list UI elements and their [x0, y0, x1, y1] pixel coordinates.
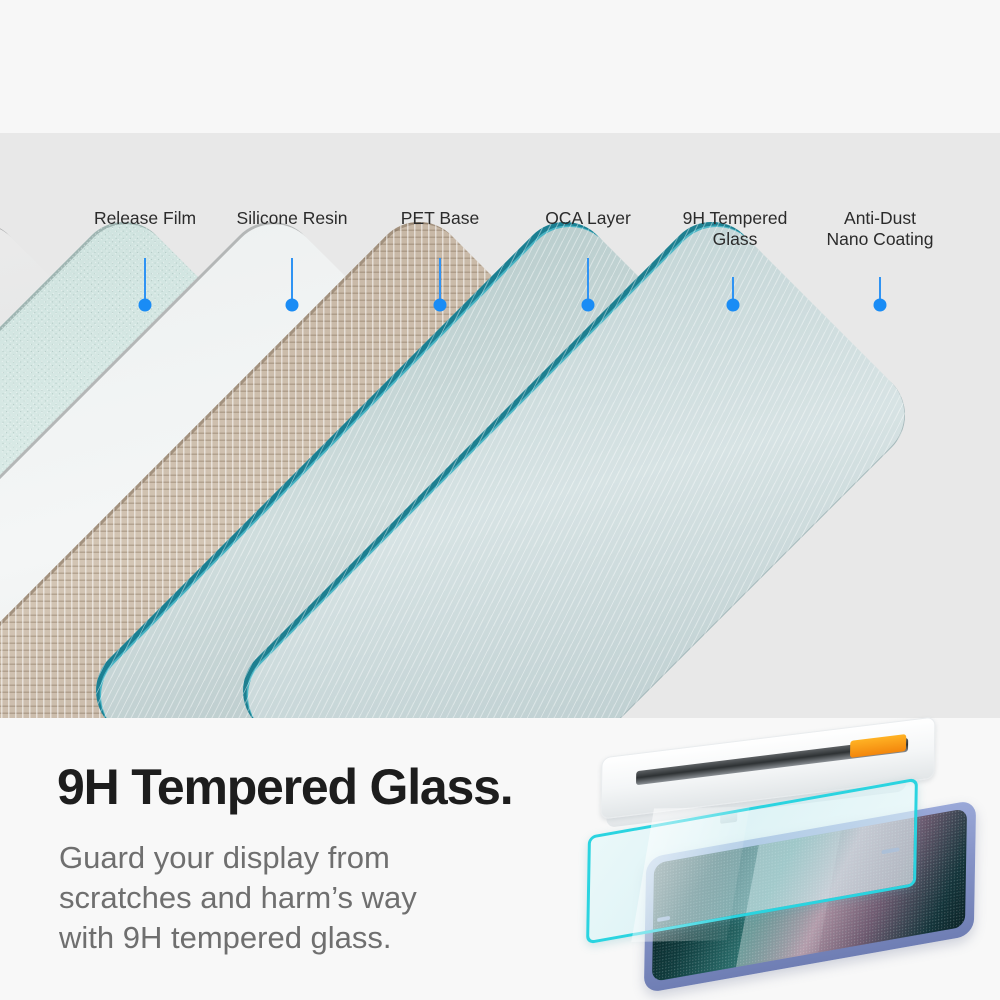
subcopy-line: scratches and harm’s way — [59, 878, 417, 918]
page-subcopy: Guard your display from scratches and ha… — [59, 838, 417, 958]
callout-label-oca-layer: OCA Layer — [545, 208, 631, 229]
tray-pull-tab — [850, 734, 906, 758]
callout-label-silicone-resin: Silicone Resin — [237, 208, 348, 229]
callout-dot-icon — [874, 299, 887, 312]
callout-label-anti-dust-nano-coating: Anti-Dust Nano Coating — [826, 208, 933, 250]
callout-dot-icon — [286, 299, 299, 312]
callout-dot-icon — [139, 299, 152, 312]
callout-label-pet-base: PET Base — [401, 208, 479, 229]
subcopy-line: with 9H tempered glass. — [59, 918, 417, 958]
callout-label-release-film: Release Film — [94, 208, 196, 229]
product-photo — [575, 725, 1000, 985]
callout-dot-icon — [434, 299, 447, 312]
layer-diagram-panel: Release Film Silicone Resin PET Base OCA… — [0, 133, 1000, 718]
callout-dot-icon — [727, 299, 740, 312]
subcopy-line: Guard your display from — [59, 838, 417, 878]
callout-dot-icon — [582, 299, 595, 312]
page-headline: 9H Tempered Glass. — [57, 758, 512, 816]
callout-label-9h-tempered-glass: 9H Tempered Glass — [683, 208, 788, 250]
